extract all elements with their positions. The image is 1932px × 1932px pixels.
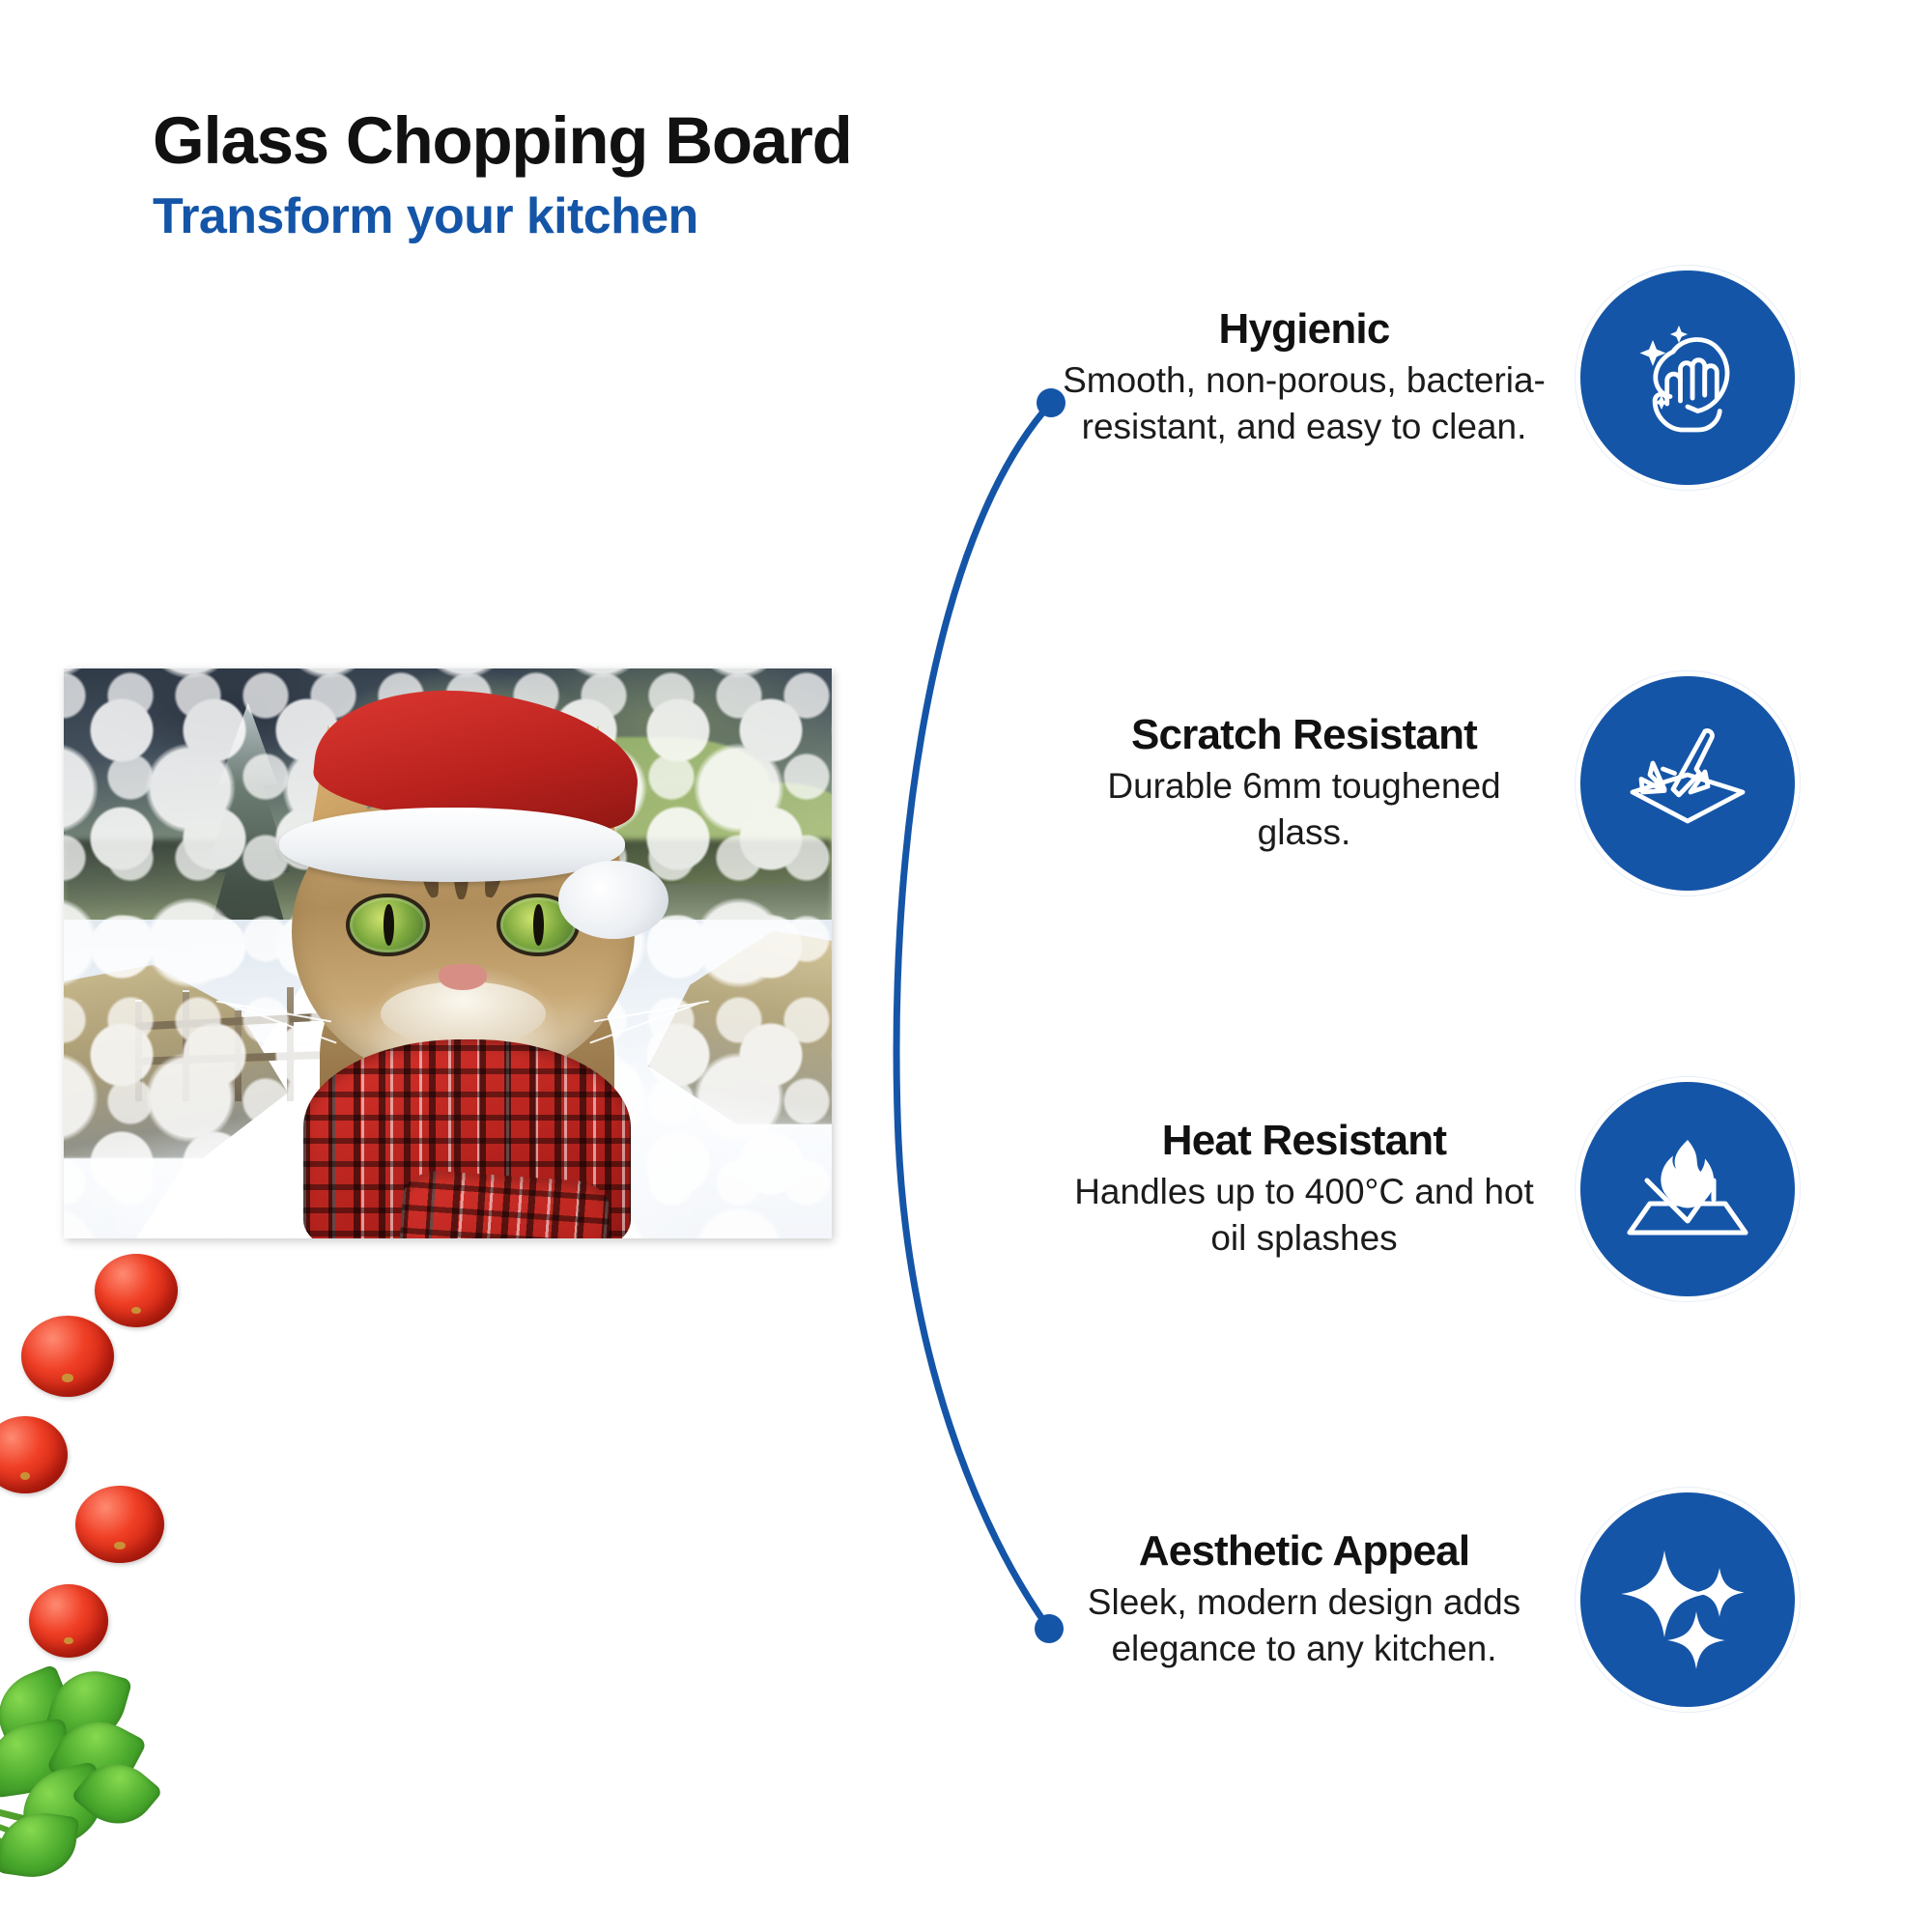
header-block: Glass Chopping Board Transform your kitc… [153, 106, 1215, 245]
cat-nose [439, 964, 487, 990]
santa-hat [279, 693, 646, 871]
cat-eye-left [346, 894, 429, 957]
feature-title: Aesthetic Appeal [1063, 1528, 1546, 1575]
infographic-page: Glass Chopping Board Transform your kitc… [0, 0, 1932, 1932]
flame-deflect-surface-icon [1580, 1082, 1795, 1296]
feature-description: Durable 6mm toughened glass. [1063, 763, 1546, 855]
santa-hat-pompom [558, 861, 668, 939]
page-title: Glass Chopping Board [153, 106, 1215, 176]
tomato-garnish [21, 1316, 114, 1397]
cat-illustration [264, 714, 663, 1238]
page-subtitle: Transform your kitchen [153, 189, 1215, 244]
feature-description: Smooth, non-porous, bacteria-resistant, … [1063, 357, 1546, 449]
feature-heat-resistant: Heat Resistant Handles up to 400°C and h… [1063, 1082, 1795, 1296]
feature-title: Scratch Resistant [1063, 712, 1546, 758]
feature-text-block: Hygienic Smooth, non-porous, bacteria-re… [1063, 306, 1546, 449]
tomato-garnish [0, 1416, 68, 1493]
connector-path [896, 403, 1051, 1629]
tomato-garnish [29, 1584, 108, 1658]
parsley-garnish [0, 1669, 205, 1891]
feature-text-block: Aesthetic Appeal Sleek, modern design ad… [1063, 1528, 1546, 1671]
connector-dot-top [1037, 388, 1065, 417]
impact-dash [1663, 769, 1675, 774]
feature-text-block: Scratch Resistant Durable 6mm toughened … [1063, 712, 1546, 855]
sparkle-medium [1695, 1568, 1745, 1617]
feature-description: Sleek, modern design adds elegance to an… [1063, 1579, 1546, 1671]
product-image-stage [0, 599, 869, 1294]
sparkle-small [1667, 1611, 1725, 1669]
knife-scratch-surface-icon [1580, 676, 1795, 891]
feature-description: Handles up to 400°C and hot oil splashes [1063, 1169, 1546, 1261]
santa-hat-brim [279, 808, 624, 883]
cat-muzzle [381, 981, 546, 1046]
tomato-garnish [95, 1254, 178, 1327]
hand-wiping-sparkle-icon [1580, 270, 1795, 485]
connector-dot-bottom [1035, 1614, 1064, 1643]
palm-outline [1655, 394, 1719, 430]
feature-hygienic: Hygienic Smooth, non-porous, bacteria-re… [1063, 270, 1795, 485]
feature-aesthetic-appeal: Aesthetic Appeal Sleek, modern design ad… [1063, 1492, 1795, 1707]
feature-text-block: Heat Resistant Handles up to 400°C and h… [1063, 1118, 1546, 1261]
feature-title: Hygienic [1063, 306, 1546, 353]
sparkles-icon [1580, 1492, 1795, 1707]
feature-title: Heat Resistant [1063, 1118, 1546, 1164]
tomato-garnish [75, 1486, 164, 1563]
product-board-photo [64, 668, 832, 1238]
feature-scratch-resistant: Scratch Resistant Durable 6mm toughened … [1063, 676, 1795, 891]
finger-3 [1705, 366, 1718, 398]
